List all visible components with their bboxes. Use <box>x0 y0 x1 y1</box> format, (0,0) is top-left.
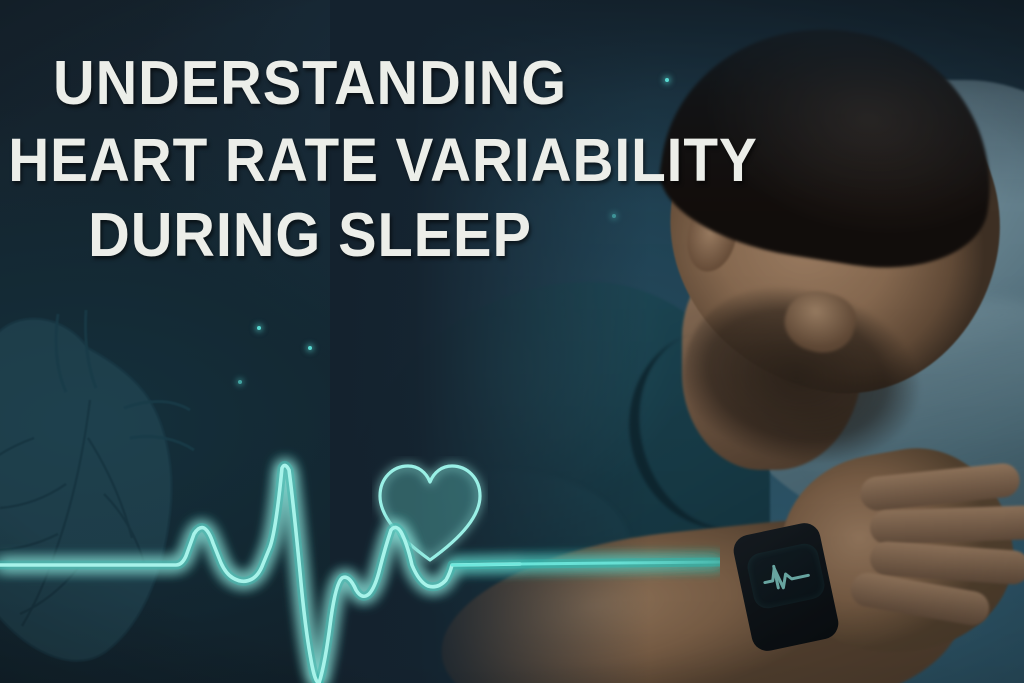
title-line-3: DURING SLEEP <box>22 198 599 274</box>
hero-graphic: UNDERSTANDING HEART RATE VARIABILITY DUR… <box>0 0 1024 683</box>
sparkle-dot <box>238 380 242 384</box>
sparkle-dot <box>257 326 261 330</box>
title-line-1: UNDERSTANDING <box>22 46 599 122</box>
sparkle-dot <box>665 78 669 82</box>
page-title: UNDERSTANDING HEART RATE VARIABILITY DUR… <box>0 46 620 274</box>
sparkle-dot <box>308 346 312 350</box>
title-line-2: HEART RATE VARIABILITY <box>8 122 598 198</box>
glowing-heart-icon <box>372 456 488 572</box>
